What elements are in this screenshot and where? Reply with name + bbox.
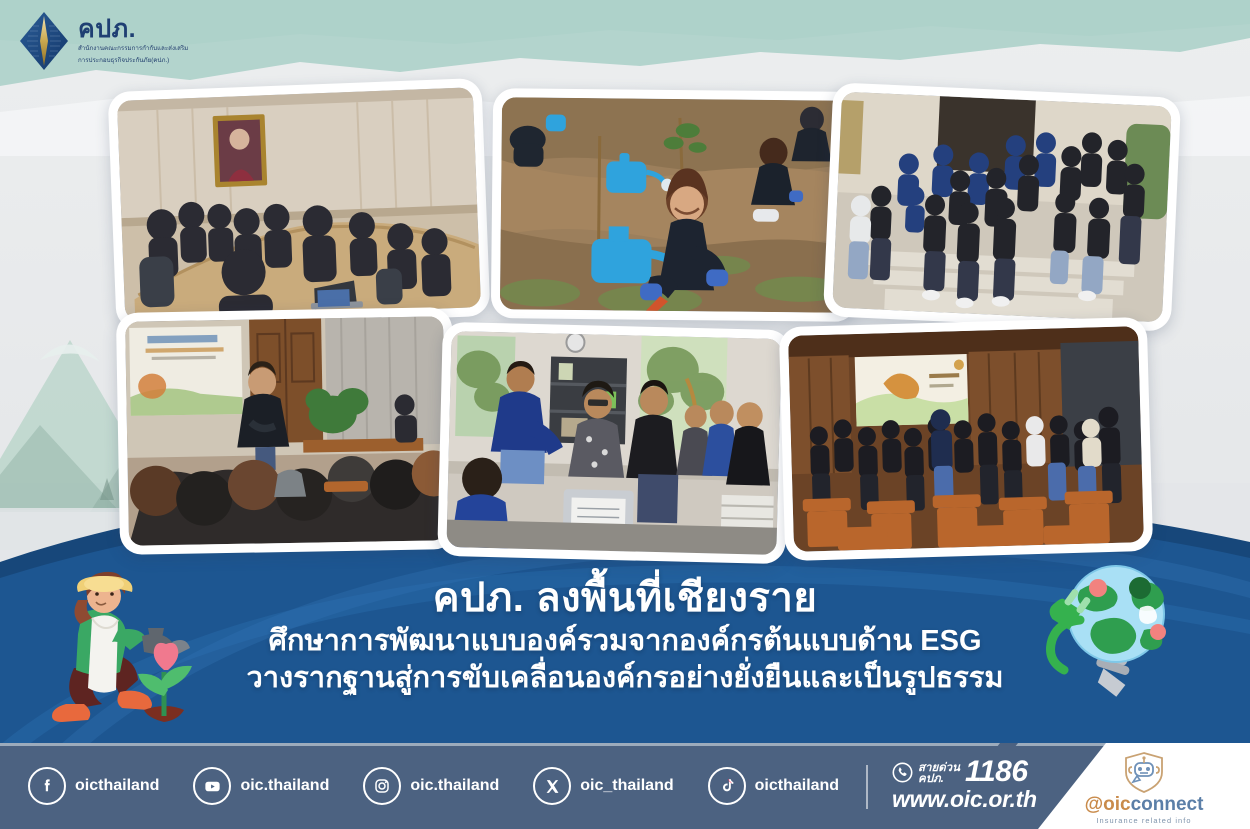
oicconnect-badge[interactable]: @oicconnect Insurance related info xyxy=(1054,749,1234,827)
headline-line-3: วางรากฐานสู่การขับเคลื่อนองค์กรอย่างยั่ง… xyxy=(130,660,1120,697)
logo-abbreviation: คปภ. xyxy=(78,17,188,42)
x-twitter-icon xyxy=(533,767,571,805)
hotline-block[interactable]: สายด่วน คปภ. 1186 www.oic.or.th xyxy=(892,758,1037,811)
chatbot-shield-icon xyxy=(1121,751,1167,793)
social-facebook[interactable]: oicthailand xyxy=(28,767,159,805)
instagram-icon xyxy=(363,767,401,805)
social-tiktok[interactable]: oicthailand xyxy=(708,767,839,805)
photo-group-staircase xyxy=(823,82,1181,332)
photo-seminar-audience xyxy=(116,307,456,555)
footer-bar: oicthailand oic.thailand oic.thailand xyxy=(0,743,1250,829)
social-instagram[interactable]: oic.thailand xyxy=(363,767,499,805)
photo-meeting-room xyxy=(108,78,491,330)
youtube-handle: oic.thailand xyxy=(240,777,329,795)
youtube-icon xyxy=(193,767,231,805)
headline-block: คปภ. ลงพื้นที่เชียงราย ศึกษาการพัฒนาแบบอ… xyxy=(130,576,1120,697)
oic-diamond-logo-icon xyxy=(18,10,70,72)
social-x-twitter[interactable]: oic_thailand xyxy=(533,767,673,805)
oicconnect-name-part1: oic xyxy=(1103,794,1130,815)
social-youtube[interactable]: oic.thailand xyxy=(193,767,329,805)
oicconnect-name-part2: connect xyxy=(1131,794,1204,815)
headline-line-1: คปภ. ลงพื้นที่เชียงราย xyxy=(130,576,1120,621)
photo-group-auditorium xyxy=(779,317,1153,561)
website-url[interactable]: www.oic.or.th xyxy=(892,787,1037,811)
gardener-watering-heart-plant-icon xyxy=(34,556,224,732)
instagram-handle: oic.thailand xyxy=(410,777,499,795)
tiktok-handle: oicthailand xyxy=(755,777,839,795)
oicconnect-at: @ xyxy=(1085,794,1104,815)
globe-lightbulb-eco-plug-icon xyxy=(1018,548,1178,708)
headline-line-2: ศึกษาการพัฒนาแบบองค์รวมจากองค์กรต้นแบบด้… xyxy=(130,623,1120,660)
hotline-label-line2: คปภ. xyxy=(918,774,960,786)
tiktok-icon xyxy=(708,767,746,805)
photo-tree-planting xyxy=(491,88,859,322)
footer-vertical-divider xyxy=(866,765,868,809)
photo-office-visit xyxy=(437,322,791,564)
facebook-icon xyxy=(28,767,66,805)
logo-subtitle-line2: การประกอบธุรกิจประกันภัย(คปภ.) xyxy=(78,57,188,66)
phone-icon xyxy=(892,762,913,783)
hotline-number: 1186 xyxy=(965,758,1028,786)
logo-subtitle-line1: สำนักงานคณะกรรมการกำกับและส่งเสริม xyxy=(78,45,188,54)
oicconnect-tagline: Insurance related info xyxy=(1096,816,1191,825)
org-logo: คปภ. สำนักงานคณะกรรมการกำกับและส่งเสริม … xyxy=(18,10,188,72)
social-links-group: oicthailand oic.thailand oic.thailand xyxy=(28,743,873,829)
facebook-handle: oicthailand xyxy=(75,777,159,795)
x-twitter-handle: oic_thailand xyxy=(580,777,673,795)
poster-canvas: คปภ. สำนักงานคณะกรรมการกำกับและส่งเสริม … xyxy=(0,0,1250,829)
